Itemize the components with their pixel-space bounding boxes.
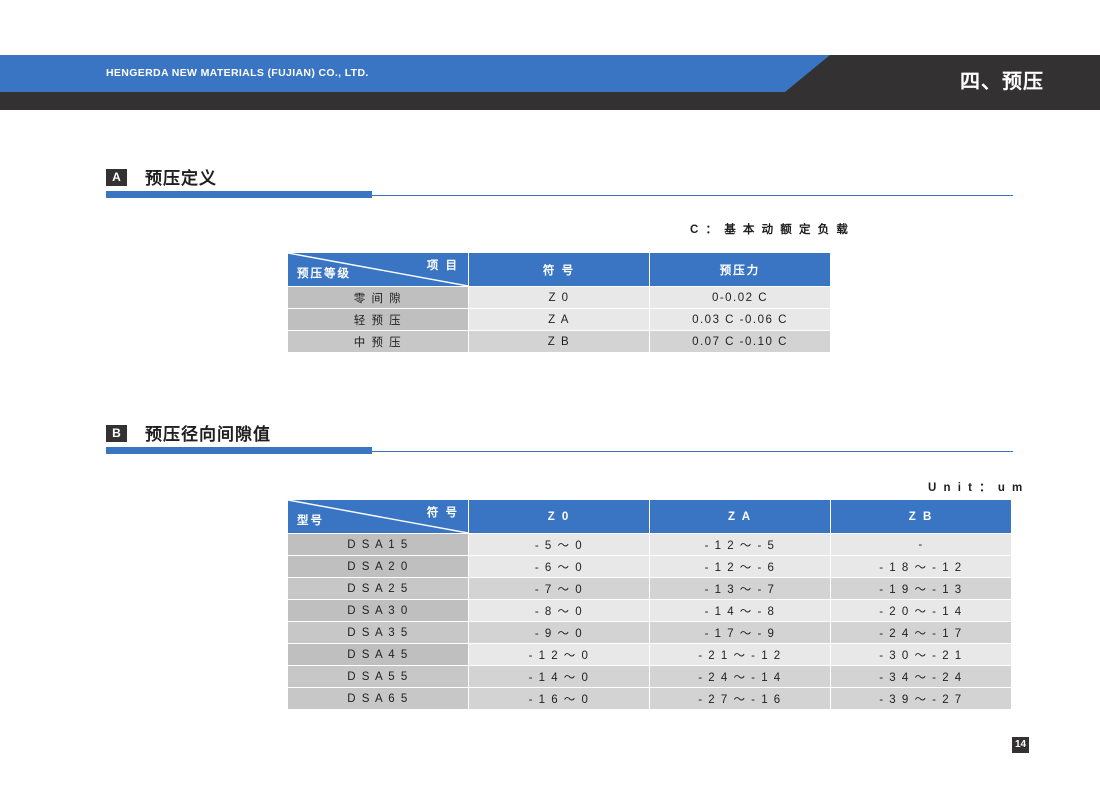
table-row: 零 间 隙 Z 0 0-0.02 C [288, 287, 830, 308]
row-label: 轻 预 压 [288, 309, 468, 330]
column-header-z0: Z 0 [469, 500, 649, 533]
corner-col-label-b: 符 号 [427, 504, 459, 520]
row-label: D S A 3 5 [288, 622, 468, 643]
row-label: D S A 6 5 [288, 688, 468, 709]
row-value: - 3 9 ～ - 2 7 [831, 688, 1011, 709]
table-radial-clearance: 型号 符 号 Z 0 Z A Z B D S A 1 5 - 5 ～ 0 - 1… [287, 499, 1012, 710]
row-value: - 1 6 ～ 0 [469, 688, 649, 709]
table-preload-definition: 预压等级 项 目 符 号 预压力 零 间 隙 Z 0 0-0.02 C 轻 预 … [287, 252, 831, 353]
row-label: D S A 5 5 [288, 666, 468, 687]
row-value: - 5 ～ 0 [469, 534, 649, 555]
row-value: - 1 4 ～ 0 [469, 666, 649, 687]
section-heading-b: B 预压径向间隙值 [106, 423, 1013, 461]
row-value: 0-0.02 C [650, 287, 830, 308]
page-header: HENGERDA NEW MATERIALS (FUJIAN) CO., LTD… [0, 55, 1100, 110]
row-value: - [831, 534, 1011, 555]
row-value: - 2 1 ～ - 1 2 [650, 644, 830, 665]
row-label: 中 预 压 [288, 331, 468, 352]
table-row: 轻 预 压 Z A 0.03 C -0.06 C [288, 309, 830, 330]
row-value: Z B [469, 331, 649, 352]
row-value: - 3 0 ～ - 2 1 [831, 644, 1011, 665]
section-badge-a: A [106, 169, 127, 186]
section-heading-a: A 预压定义 [106, 167, 1013, 205]
row-value: - 8 ～ 0 [469, 600, 649, 621]
page-number: 14 [1012, 737, 1029, 753]
corner-row-label-b: 型号 [297, 512, 324, 528]
section-title-b: 预压径向间隙值 [145, 420, 271, 445]
corner-cell-a: 预压等级 项 目 [288, 253, 468, 286]
table-row: D S A 5 5 - 1 4 ～ 0 - 2 4 ～ - 1 4 - 3 4 … [288, 666, 1011, 687]
table-row: D S A 1 5 - 5 ～ 0 - 1 2 ～ - 5 - [288, 534, 1011, 555]
row-value: - 1 9 ～ - 1 3 [831, 578, 1011, 599]
row-value: - 1 2 ～ - 5 [650, 534, 830, 555]
row-value: Z 0 [469, 287, 649, 308]
row-value: - 6 ～ 0 [469, 556, 649, 577]
corner-row-label-a: 预压等级 [297, 265, 351, 281]
row-value: - 7 ～ 0 [469, 578, 649, 599]
section-rule-thick-b [106, 447, 372, 454]
row-value: - 2 4 ～ - 1 4 [650, 666, 830, 687]
chapter-title: 四、预压 [960, 55, 1044, 110]
row-value: Z A [469, 309, 649, 330]
table-row: 中 预 压 Z B 0.07 C -0.10 C [288, 331, 830, 352]
column-header-preload-force: 预压力 [650, 253, 830, 286]
section-rule-thick-a [106, 191, 372, 198]
row-value: - 9 ～ 0 [469, 622, 649, 643]
column-header-zb: Z B [831, 500, 1011, 533]
caption-basic-dynamic-load: C ： 基 本 动 额 定 负 载 [690, 221, 850, 237]
company-name: HENGERDA NEW MATERIALS (FUJIAN) CO., LTD… [106, 55, 369, 92]
row-label: D S A 2 5 [288, 578, 468, 599]
section-title-a: 预压定义 [145, 164, 217, 189]
column-header-symbol: 符 号 [469, 253, 649, 286]
row-value: - 1 3 ～ - 7 [650, 578, 830, 599]
row-label: D S A 1 5 [288, 534, 468, 555]
row-value: 0.03 C -0.06 C [650, 309, 830, 330]
row-value: - 2 7 ～ - 1 6 [650, 688, 830, 709]
row-label: 零 间 隙 [288, 287, 468, 308]
row-label: D S A 4 5 [288, 644, 468, 665]
row-value: - 2 4 ～ - 1 7 [831, 622, 1011, 643]
section-badge-b: B [106, 425, 127, 442]
row-value: 0.07 C -0.10 C [650, 331, 830, 352]
corner-cell-b: 型号 符 号 [288, 500, 468, 533]
row-value: - 1 8 ～ - 1 2 [831, 556, 1011, 577]
row-value: - 1 2 ～ - 6 [650, 556, 830, 577]
table-row: D S A 3 0 - 8 ～ 0 - 1 4 ～ - 8 - 2 0 ～ - … [288, 600, 1011, 621]
row-value: - 1 4 ～ - 8 [650, 600, 830, 621]
table-header-row: 预压等级 项 目 符 号 预压力 [288, 253, 830, 286]
row-value: - 1 7 ～ - 9 [650, 622, 830, 643]
row-label: D S A 3 0 [288, 600, 468, 621]
row-value: - 1 2 ～ 0 [469, 644, 649, 665]
table-header-row: 型号 符 号 Z 0 Z A Z B [288, 500, 1011, 533]
column-header-za: Z A [650, 500, 830, 533]
row-label: D S A 2 0 [288, 556, 468, 577]
table-row: D S A 3 5 - 9 ～ 0 - 1 7 ～ - 9 - 2 4 ～ - … [288, 622, 1011, 643]
caption-unit: U n i t ： u m [928, 479, 1024, 495]
table-row: D S A 4 5 - 1 2 ～ 0 - 2 1 ～ - 1 2 - 3 0 … [288, 644, 1011, 665]
row-value: - 3 4 ～ - 2 4 [831, 666, 1011, 687]
table-row: D S A 2 0 - 6 ～ 0 - 1 2 ～ - 6 - 1 8 ～ - … [288, 556, 1011, 577]
table-row: D S A 6 5 - 1 6 ～ 0 - 2 7 ～ - 1 6 - 3 9 … [288, 688, 1011, 709]
table-row: D S A 2 5 - 7 ～ 0 - 1 3 ～ - 7 - 1 9 ～ - … [288, 578, 1011, 599]
row-value: - 2 0 ～ - 1 4 [831, 600, 1011, 621]
corner-col-label-a: 项 目 [427, 257, 459, 273]
